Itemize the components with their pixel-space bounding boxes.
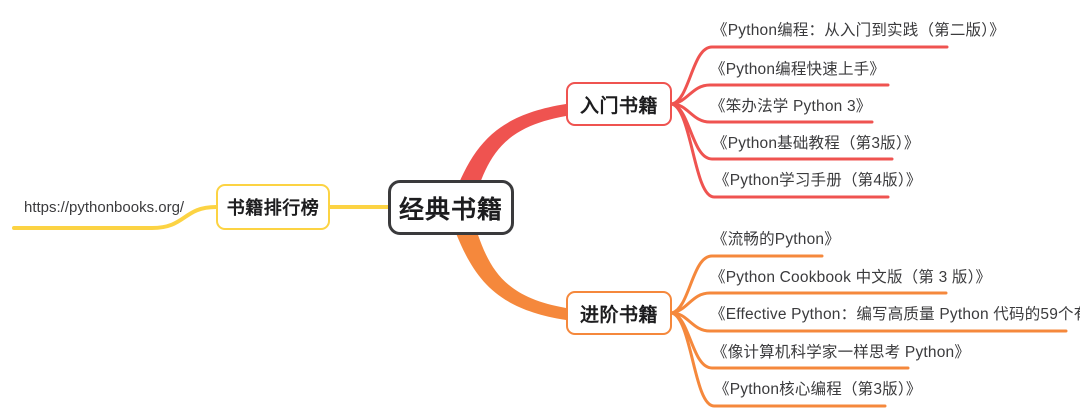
leaf-item[interactable]: 《Python编程：从入门到实践（第二版）》 xyxy=(712,23,1005,39)
leaf-item[interactable]: 《Python学习手册（第4版）》 xyxy=(714,173,922,189)
leaf-item-label: 《流畅的Python》 xyxy=(712,231,840,248)
leaf-item[interactable]: 《Python Cookbook 中文版（第 3 版）》 xyxy=(710,270,991,286)
leaf-item-label: 《Python编程快速上手》 xyxy=(710,61,885,78)
node-branch-advanced-label: 进阶书籍 xyxy=(580,300,658,327)
leaf-item-label: 《Python Cookbook 中文版（第 3 版）》 xyxy=(710,269,991,286)
leaf-ranking-url[interactable]: https://pythonbooks.org/ xyxy=(24,200,204,215)
leaf-item[interactable]: 《Effective Python：编写高质量 Python 代码的59个有效方… xyxy=(710,307,1080,323)
node-branch-advanced-books[interactable]: 进阶书籍 xyxy=(566,291,672,335)
leaf-item[interactable]: 《Python基础教程（第3版）》 xyxy=(712,136,920,152)
leaf-item-label: 《像计算机科学家一样思考 Python》 xyxy=(712,344,970,361)
node-root-classic-books[interactable]: 经典书籍 xyxy=(388,180,514,235)
leaf-item-label: 《Effective Python：编写高质量 Python 代码的59个有效方… xyxy=(710,306,1080,323)
leaf-item-label: 《Python学习手册（第4版）》 xyxy=(714,172,922,189)
leaf-item[interactable]: 《Python核心编程（第3版）》 xyxy=(714,382,922,398)
node-branch-beginner-label: 入门书籍 xyxy=(580,91,658,118)
leaf-item-label: 《Python基础教程（第3版）》 xyxy=(712,135,920,152)
node-branch-beginner-books[interactable]: 入门书籍 xyxy=(566,82,672,126)
node-book-ranking-label: 书籍排行榜 xyxy=(227,194,320,220)
leaf-item-label: 《Python编程：从入门到实践（第二版）》 xyxy=(712,22,1005,39)
leaf-item-label: 《笨办法学 Python 3》 xyxy=(710,98,872,115)
leaf-ranking-url-label: https://pythonbooks.org/ xyxy=(24,199,184,216)
mindmap-canvas: https://pythonbooks.org/ 书籍排行榜 经典书籍 入门书籍… xyxy=(0,0,1080,420)
leaf-item-label: 《Python核心编程（第3版）》 xyxy=(714,381,922,398)
leaf-item[interactable]: 《Python编程快速上手》 xyxy=(710,62,885,78)
leaf-item[interactable]: 《流畅的Python》 xyxy=(712,232,840,248)
node-root-label: 经典书籍 xyxy=(399,190,503,226)
node-book-ranking[interactable]: 书籍排行榜 xyxy=(216,184,330,230)
leaf-item[interactable]: 《像计算机科学家一样思考 Python》 xyxy=(712,345,970,361)
leaf-item[interactable]: 《笨办法学 Python 3》 xyxy=(710,99,872,115)
